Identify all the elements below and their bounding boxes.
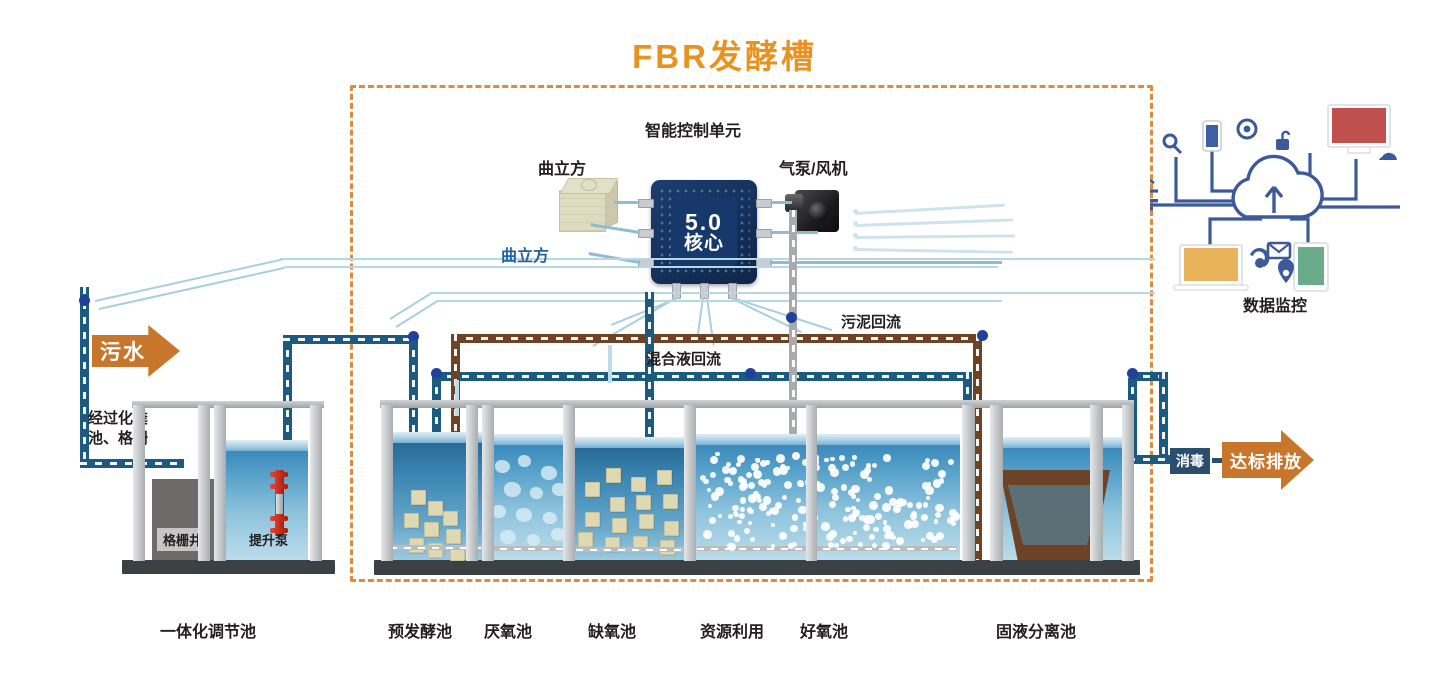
bubble: [866, 515, 875, 524]
bubble: [710, 456, 718, 464]
media-cube: [446, 529, 461, 544]
at-icon: [1244, 126, 1251, 133]
transfer-pipe-top: [283, 335, 418, 344]
control-core-chip[interactable]: 5.0 核心: [651, 180, 757, 284]
bubble: [751, 463, 759, 471]
media-cube: [585, 512, 600, 527]
bubble: [724, 477, 731, 484]
sludge-return-label: 污泥回流: [841, 311, 901, 332]
bubble: [921, 514, 928, 521]
bubble: [824, 458, 829, 463]
bubble: [869, 501, 878, 510]
monitor-icon: [1332, 108, 1386, 143]
floc-blob: [495, 460, 510, 473]
bubble: [707, 488, 711, 492]
floc-blob: [492, 505, 506, 518]
bubble: [875, 513, 882, 520]
media-cube: [585, 482, 600, 497]
bubble: [703, 479, 709, 485]
cloud-icon-small: [1379, 153, 1397, 160]
bubble: [867, 477, 872, 482]
stage-label-anoxic-tank: 缺氧池: [588, 618, 636, 642]
bubble: [882, 503, 891, 512]
floc-blob: [500, 530, 516, 544]
bubble: [737, 520, 741, 524]
lift-pump-label: 提升泵: [243, 528, 294, 551]
effluent-arrow-label: 达标排放: [1230, 448, 1302, 473]
floc-blob: [543, 512, 557, 524]
dropper-line: [608, 345, 612, 383]
bubble: [788, 543, 793, 548]
bubble: [885, 489, 889, 493]
stage-label-solid-liquid-separation: 固液分离池: [996, 618, 1076, 642]
bubble: [829, 530, 837, 538]
air-line-node: [853, 209, 858, 214]
stage-label-aerobic-tank: 好氧池: [800, 618, 848, 642]
bubble: [933, 479, 941, 487]
stage-label-anaerobic-tank: 厌氧池: [484, 618, 532, 642]
bubble: [839, 455, 845, 461]
bubble: [703, 530, 712, 539]
pipe-node: [977, 330, 988, 341]
bubble: [948, 459, 954, 465]
qulifang-cube-icon: [559, 178, 617, 230]
bubble: [753, 470, 762, 479]
bubble: [925, 486, 934, 495]
tank-base-left: [122, 560, 335, 574]
bubble: [830, 468, 839, 477]
bubble: [951, 512, 959, 520]
bubble: [848, 514, 856, 522]
phone-icon: [1206, 125, 1218, 147]
bubble: [739, 513, 745, 519]
bubble: [900, 499, 907, 506]
bubble: [926, 496, 930, 500]
signal-bus-line: [284, 266, 998, 268]
mixed-liquor-return-label: 混合液回流: [646, 348, 721, 369]
media-cube: [664, 521, 679, 536]
dropper-line: [455, 380, 459, 416]
bubble: [790, 525, 797, 532]
disinfect-inlet-pipe: [1128, 455, 1174, 464]
pipe-node: [79, 295, 90, 306]
bubble: [851, 494, 855, 498]
influent-arrow: 污水: [92, 325, 180, 377]
bubble: [709, 517, 716, 524]
tank-base-main: [374, 560, 1140, 575]
floc-blob: [527, 534, 540, 546]
bubble: [934, 519, 938, 523]
qulifang-pipe-label: 曲立方: [501, 242, 549, 266]
bubble: [738, 476, 744, 482]
air-line-node: [853, 233, 858, 238]
tank-column: [684, 405, 696, 561]
bubble: [951, 521, 956, 526]
bubble: [884, 533, 890, 539]
bubble: [830, 457, 835, 462]
media-cube: [411, 490, 426, 505]
bubble: [740, 507, 745, 512]
chip-lead: [770, 261, 1002, 264]
media-cube: [663, 494, 678, 509]
pipe-node: [745, 368, 756, 379]
data-monitoring-label: 数据监控: [1150, 292, 1400, 316]
bubble: [748, 494, 757, 503]
influent-arrow-label: 污水: [100, 336, 146, 366]
bubble: [893, 505, 901, 513]
bubble: [872, 543, 877, 548]
bubble: [747, 507, 752, 512]
bubble: [733, 511, 738, 516]
air-line-node: [853, 246, 858, 251]
chip-pin-left: [638, 199, 654, 208]
floc-blob: [530, 487, 543, 499]
bubble: [863, 524, 870, 531]
media-cube: [424, 522, 439, 537]
chip-pin-left: [638, 229, 654, 238]
bubble: [743, 483, 749, 489]
bubble: [776, 454, 785, 463]
chip-pin-bottom: [700, 283, 709, 299]
bubble: [734, 535, 740, 541]
pipe-node: [1127, 368, 1138, 379]
media-cube: [639, 514, 654, 529]
floc-blob: [504, 482, 521, 497]
tank-column: [806, 405, 817, 561]
laptop-icon: [1184, 248, 1238, 281]
blower-device-label: 气泵/风机: [779, 155, 847, 179]
bubble: [841, 484, 847, 490]
bubble: [851, 506, 856, 511]
bubble: [846, 536, 853, 543]
tank-column: [1122, 405, 1134, 561]
data-monitoring-diagram: [1150, 95, 1400, 310]
stage-label-resource-utilization: 资源利用: [700, 618, 764, 642]
media-cube: [443, 511, 458, 526]
sludge-return-pipe: [451, 334, 982, 343]
pipe-node: [431, 368, 442, 379]
bubble: [796, 498, 801, 503]
bubble: [850, 461, 856, 467]
air-line-node: [853, 221, 858, 226]
tank-column: [563, 405, 575, 561]
chip-lead: [770, 201, 792, 204]
signal-line: [95, 258, 283, 302]
diffuser-pipe: [486, 546, 572, 551]
tank-column: [1090, 405, 1103, 561]
signal-line: [99, 267, 285, 310]
bubble: [935, 504, 944, 513]
tank-column: [198, 405, 210, 561]
tank-column: [214, 405, 226, 561]
tablet-icon: [1298, 247, 1324, 285]
qulifang-device-label: 曲立方: [538, 155, 586, 179]
chip-lead: [614, 201, 640, 204]
tank-column: [381, 405, 393, 561]
signal-bus-line: [280, 258, 998, 260]
signal-bus-line: [995, 258, 1155, 260]
stage-label-integrated-regulating-tank: 一体化调节池: [160, 618, 256, 642]
floc-blob: [518, 455, 531, 467]
bubble: [711, 492, 719, 500]
signal-bus-line: [436, 300, 1002, 302]
control-unit-heading: 智能控制单元: [645, 117, 741, 141]
bubble: [907, 502, 913, 508]
page-title: FBR发酵槽: [0, 30, 1449, 78]
bubble: [856, 498, 860, 502]
diffuser-pipe: [576, 547, 692, 552]
tank-column: [990, 405, 1003, 561]
diffuser-pipe: [697, 546, 957, 551]
chip-core-face: 5.0 核心: [671, 198, 737, 266]
bubble: [852, 455, 856, 459]
effluent-arrow: 达标排放: [1222, 430, 1314, 490]
bubble: [782, 495, 787, 500]
tank-column: [310, 405, 322, 561]
signal-icon: [1150, 199, 1158, 202]
bubble: [872, 463, 877, 468]
chip-version: 5.0: [685, 210, 723, 234]
media-cube: [636, 495, 651, 510]
media-cube: [404, 513, 419, 528]
mixed-liquor-return-pipe: [432, 372, 972, 381]
tank-column: [466, 405, 478, 561]
tank-column: [133, 405, 145, 561]
bubble: [908, 522, 914, 528]
search-icon: [1174, 146, 1181, 153]
floc-blob: [541, 466, 557, 480]
bubble: [792, 452, 800, 460]
bubble: [916, 502, 923, 509]
tank-column: [962, 405, 975, 561]
signal-bus-line: [430, 292, 1000, 294]
bubble: [821, 522, 830, 531]
sludge-hopper-inner: [1008, 485, 1102, 545]
media-cube: [578, 532, 593, 547]
chip-core-text: 核心: [684, 234, 724, 254]
media-cube: [631, 477, 646, 492]
stage-label-pre-fermentation-tank: 预发酵池: [388, 618, 452, 642]
pipe-node: [408, 331, 419, 342]
effluent-downpipe: [1159, 372, 1168, 458]
media-cube: [428, 501, 443, 516]
bubble: [883, 454, 890, 461]
bubble: [765, 460, 770, 465]
inlet-bottom-pipe: [80, 459, 184, 468]
media-cube: [610, 497, 625, 512]
media-cube: [657, 470, 672, 485]
media-cube: [612, 518, 627, 533]
lock-icon: [1276, 139, 1289, 150]
bubble: [831, 488, 838, 495]
wifi-icon: [1150, 180, 1154, 183]
signal-bus-line: [995, 292, 1155, 294]
floc-blob: [516, 508, 532, 522]
bubble: [828, 542, 834, 548]
bubble: [799, 483, 803, 487]
tank-column: [482, 405, 494, 561]
disinfect-badge[interactable]: 消毒: [1170, 448, 1210, 474]
tank-beam-left: [132, 401, 324, 408]
bubble: [883, 525, 891, 533]
media-cube: [606, 468, 621, 483]
pipe-node: [786, 312, 797, 323]
bubble: [766, 511, 771, 516]
